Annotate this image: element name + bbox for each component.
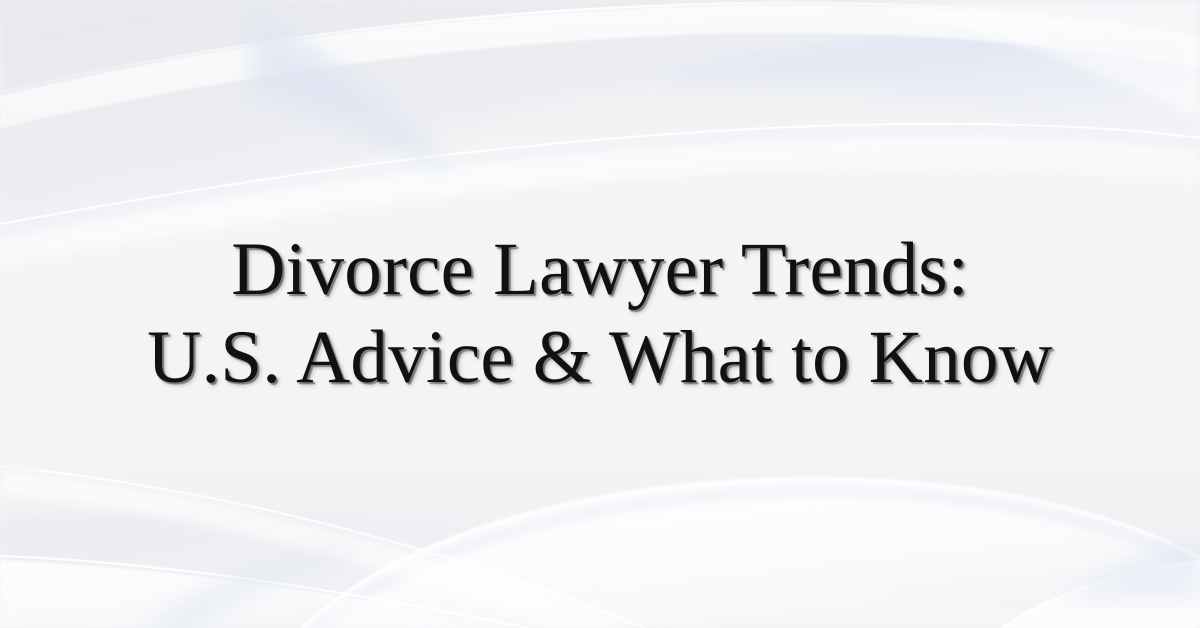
background-waves-decoration	[0, 0, 1200, 628]
share-banner: Divorce Lawyer Trends: U.S. Advice & Wha…	[0, 0, 1200, 628]
